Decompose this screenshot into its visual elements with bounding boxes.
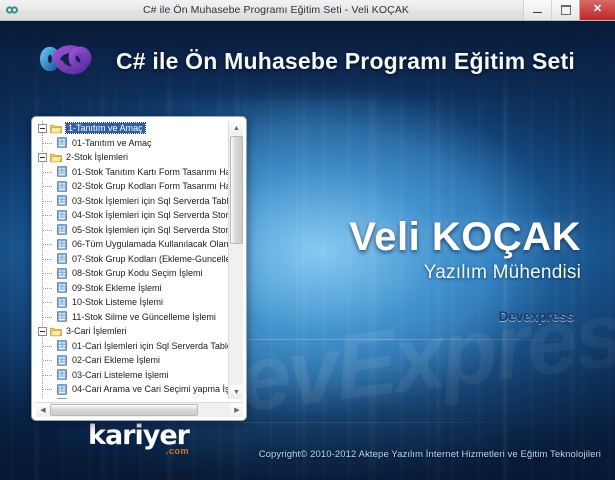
tree-horizontal-scrollbar[interactable]: ◀ ▶	[36, 402, 243, 417]
tree-guide-branch	[43, 360, 53, 361]
scroll-down-button[interactable]: ▼	[229, 385, 243, 399]
tree-guide-branch	[43, 172, 53, 173]
tree-node-label: 05-Stok İşlemleri için Sql Serverda Stor…	[72, 225, 229, 235]
copyright-text: Copyright© 2010-2012 Aktepe Yazılım İnte…	[259, 449, 601, 460]
tree-guide-branch	[43, 317, 53, 318]
tree-guide-branch	[43, 288, 53, 289]
kariyer-logo-suffix: .com	[88, 446, 189, 456]
video-file-icon	[56, 398, 72, 399]
folder-open-icon	[50, 326, 66, 337]
tree-guide-branch	[43, 302, 53, 303]
tree-node[interactable]: 07-Stok Grup Kodları (Ekleme-Guncelle-Si…	[36, 252, 229, 267]
close-icon: ✕	[593, 4, 602, 15]
tree-node[interactable]: 01-Tanıtım ve Amaç	[36, 136, 229, 151]
video-file-icon	[56, 268, 72, 279]
tree-node-label: 10-Stok Listeme İşlemi	[72, 297, 163, 307]
tree-node-label: 01-Tanıtım ve Amaç	[72, 138, 152, 148]
tree-node-label: 07-Stok Grup Kodları (Ekleme-Guncelle-Si…	[72, 254, 229, 264]
application-window: C# ile Ön Muhasebe Programı Eğitim Seti …	[0, 0, 615, 480]
tree-node-label: 02-Stok Grup Kodları Form Tasarımı Hazır…	[72, 181, 229, 191]
tree-node[interactable]: 04-Stok İşlemleri için Sql Serverda Stor…	[36, 208, 229, 223]
header-band: C# ile Ön Muhasebe Programı Eğitim Seti	[0, 21, 615, 101]
video-file-icon	[56, 137, 72, 148]
minus-icon	[40, 331, 45, 332]
author-block: Veli KOÇAK Yazılım Mühendisi Devexpress™	[291, 216, 581, 326]
infinity-icon	[5, 3, 19, 17]
tree-guide-branch	[43, 186, 53, 187]
video-file-icon	[56, 340, 72, 351]
tree-expander-collapse-icon[interactable]	[38, 327, 47, 336]
tree-node[interactable]: 06-Tüm Uygulamada Kullanılacak Olan Veri	[36, 237, 229, 252]
horizontal-scroll-track[interactable]	[50, 403, 230, 418]
tree-node-label: 06-Tüm Uygulamada Kullanılacak Olan Veri	[72, 239, 229, 249]
tree-guide-branch	[43, 244, 53, 245]
tree-node[interactable]: 09-Stok Ekleme İşlemi	[36, 281, 229, 296]
window-controls: ✕	[523, 0, 615, 21]
video-file-icon	[56, 369, 72, 380]
video-file-icon	[56, 239, 72, 250]
vertical-scroll-thumb[interactable]	[230, 136, 243, 244]
folder-open-icon	[50, 123, 66, 134]
chevron-up-icon: ▲	[233, 125, 240, 132]
window-titlebar: C# ile Ön Muhasebe Programı Eğitim Seti …	[0, 0, 615, 21]
tree-node[interactable]: 10-Stok Listeme İşlemi	[36, 295, 229, 310]
video-file-icon	[56, 355, 72, 366]
tree-node[interactable]: 03-Cari Listeleme İşlemi	[36, 368, 229, 383]
tree-guide-branch	[43, 346, 53, 347]
video-file-icon	[56, 311, 72, 322]
tree-node[interactable]: 08-Stok Grup Kodu Seçim İşlemi	[36, 266, 229, 281]
tree-node-label: 01-Stok Tanıtım Kartı Form Tasarımı Hazı…	[72, 167, 229, 177]
tree-guide-branch	[43, 201, 53, 202]
tree-node-label: 04-Cari Arama ve Cari Seçimi yapma İşlem…	[72, 384, 229, 394]
kariyer-logo: kariyer .com	[88, 420, 189, 456]
tree-node-label: 08-Stok Grup Kodu Seçim İşlemi	[72, 268, 203, 278]
minus-icon	[40, 157, 45, 158]
tree-node[interactable]: 2-Stok İşlemleri	[36, 150, 229, 165]
video-file-icon	[56, 195, 72, 206]
devexpress-logo-dev: Dev	[498, 308, 523, 324]
tree-node-label: 03-Cari Listeleme İşlemi	[72, 370, 169, 380]
tree-expander-collapse-icon[interactable]	[38, 124, 47, 133]
tree-guide-branch	[43, 375, 53, 376]
tree-guide-branch	[43, 230, 53, 231]
tree-vertical-scrollbar[interactable]: ▲ ▼	[228, 121, 243, 399]
minimize-button[interactable]	[523, 0, 551, 20]
tree-node[interactable]: 11-Stok Silme ve Güncelleme İşlemi	[36, 310, 229, 325]
tree-node-label: 01-Cari İşlemleri için Sql Serverda Tabl…	[72, 341, 229, 351]
tree-node-label: 09-Stok Ekleme İşlemi	[72, 283, 162, 293]
tree-list[interactable]: 1-Tanıtım ve Amaç01-Tanıtım ve Amaç2-Sto…	[36, 121, 229, 399]
tree-node[interactable]: 01-Cari İşlemleri için Sql Serverda Tabl…	[36, 339, 229, 354]
chevron-down-icon: ▼	[233, 389, 240, 396]
video-file-icon	[56, 253, 72, 264]
scroll-right-button[interactable]: ▶	[230, 403, 243, 418]
tree-guide-branch	[43, 259, 53, 260]
tree-node-label: 1-Tanıtım ve Amaç	[66, 123, 145, 133]
tree-node[interactable]: 04-Cari Arama ve Cari Seçimi yapma İşlem…	[36, 382, 229, 397]
window-title: C# ile Ön Muhasebe Programı Eğitim Seti …	[19, 4, 523, 16]
course-tree-panel: 1-Tanıtım ve Amaç01-Tanıtım ve Amaç2-Sto…	[31, 116, 247, 421]
video-file-icon	[56, 297, 72, 308]
maximize-button[interactable]	[551, 0, 579, 20]
chevron-left-icon: ◀	[40, 406, 45, 414]
author-role: Yazılım Mühendisi	[291, 262, 581, 284]
tree-expander-collapse-icon[interactable]	[38, 153, 47, 162]
tree-node-label: 04-Stok İşlemleri için Sql Serverda Stor…	[72, 210, 229, 220]
minimize-icon	[533, 12, 542, 13]
tree-node[interactable]: 3-Cari İşlemleri	[36, 324, 229, 339]
video-file-icon	[56, 384, 72, 395]
close-button[interactable]: ✕	[579, 0, 615, 20]
tree-guide-branch	[43, 273, 53, 274]
header-title: C# ile Ön Muhasebe Programı Eğitim Seti	[116, 48, 575, 75]
horizontal-scroll-thumb[interactable]	[50, 404, 198, 416]
tree-node-label: 2-Stok İşlemleri	[66, 152, 128, 162]
author-name: Veli KOÇAK	[291, 216, 581, 258]
folder-open-icon	[50, 152, 66, 163]
tree-guide-branch	[43, 215, 53, 216]
video-file-icon	[56, 282, 72, 293]
tree-node[interactable]: 01-Stok Tanıtım Kartı Form Tasarımı Hazı…	[36, 165, 229, 180]
tree-node[interactable]: 05-Stok İşlemleri için Sql Serverda Stor…	[36, 223, 229, 238]
tree-node[interactable]: 02-Cari Ekleme İşlemi	[36, 353, 229, 368]
devexpress-logo: Devexpress™	[498, 308, 581, 324]
maximize-icon	[561, 5, 571, 15]
tree-guide-branch	[43, 143, 53, 144]
video-file-icon	[56, 166, 72, 177]
tree-guide-branch	[43, 389, 53, 390]
video-file-icon	[56, 224, 72, 235]
tree-node[interactable]: 03-Stok İşlemleri için Sql Serverda Tabl…	[36, 194, 229, 209]
video-file-icon	[56, 210, 72, 221]
tree-node[interactable]: 02-Stok Grup Kodları Form Tasarımı Hazır…	[36, 179, 229, 194]
tree-node-label: 11-Stok Silme ve Güncelleme İşlemi	[72, 312, 216, 322]
infinity-logo-icon	[36, 38, 98, 85]
minus-icon	[40, 128, 45, 129]
tree-node[interactable]: 1-Tanıtım ve Amaç	[36, 121, 229, 136]
tree-node-label: 03-Stok İşlemleri için Sql Serverda Tabl…	[72, 196, 229, 206]
tree-node-label: 02-Cari Ekleme İşlemi	[72, 355, 160, 365]
devexpress-logo-express: express	[523, 308, 574, 324]
scroll-left-button[interactable]: ◀	[36, 403, 50, 418]
tree-node[interactable]: 05-Cari Silme ve Güncelleme İşlemi	[36, 397, 229, 400]
chevron-right-icon: ▶	[234, 406, 239, 414]
video-file-icon	[56, 181, 72, 192]
scroll-up-button[interactable]: ▲	[229, 121, 243, 135]
tree-node-label: 3-Cari İşlemleri	[66, 326, 127, 336]
splash-canvas: DevExpress	[0, 21, 615, 480]
trademark-icon: ™	[574, 313, 581, 320]
